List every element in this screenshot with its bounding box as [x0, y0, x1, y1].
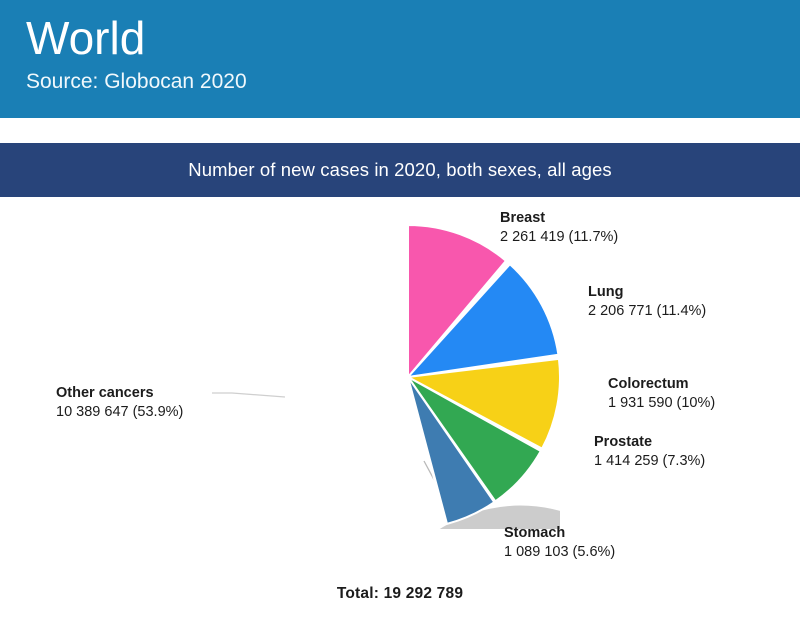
callout-colorectum-name: Colorectum	[608, 375, 715, 394]
header-band: World Source: Globocan 2020	[0, 0, 800, 118]
callout-lung[interactable]: Lung 2 206 771 (11.4%)	[588, 283, 706, 321]
page-title: World	[26, 10, 800, 66]
callout-lung-value: 2 206 771 (11.4%)	[588, 302, 706, 321]
callout-breast-value: 2 261 419 (11.7%)	[500, 228, 618, 247]
callout-prostate-value: 1 414 259 (7.3%)	[594, 452, 705, 471]
total-label: Total: 19 292 789	[0, 585, 800, 603]
pie-chart	[256, 225, 560, 529]
source-line: Source: Globocan 2020	[26, 66, 800, 95]
slide-page: World Source: Globocan 2020 Number of ne…	[0, 0, 800, 632]
callout-other-cancers[interactable]: Other cancers 10 389 647 (53.9%)	[56, 384, 183, 422]
callout-lung-name: Lung	[588, 283, 706, 302]
callout-colorectum-value: 1 931 590 (10%)	[608, 394, 715, 413]
callout-breast-name: Breast	[500, 209, 618, 228]
chart-area: Breast 2 261 419 (11.7%) Lung 2 206 771 …	[0, 197, 800, 632]
callout-colorectum[interactable]: Colorectum 1 931 590 (10%)	[608, 375, 715, 413]
callout-stomach-name: Stomach	[504, 524, 615, 543]
callout-prostate[interactable]: Prostate 1 414 259 (7.3%)	[594, 433, 705, 471]
callout-stomach[interactable]: Stomach 1 089 103 (5.6%)	[504, 524, 615, 562]
pie-svg	[256, 225, 560, 529]
callout-breast[interactable]: Breast 2 261 419 (11.7%)	[500, 209, 618, 247]
subtitle-band: Number of new cases in 2020, both sexes,…	[0, 143, 800, 197]
callout-other-cancers-name: Other cancers	[56, 384, 183, 403]
callout-stomach-value: 1 089 103 (5.6%)	[504, 543, 615, 562]
callout-prostate-name: Prostate	[594, 433, 705, 452]
chart-subtitle: Number of new cases in 2020, both sexes,…	[188, 159, 611, 181]
callout-other-cancers-value: 10 389 647 (53.9%)	[56, 403, 183, 422]
